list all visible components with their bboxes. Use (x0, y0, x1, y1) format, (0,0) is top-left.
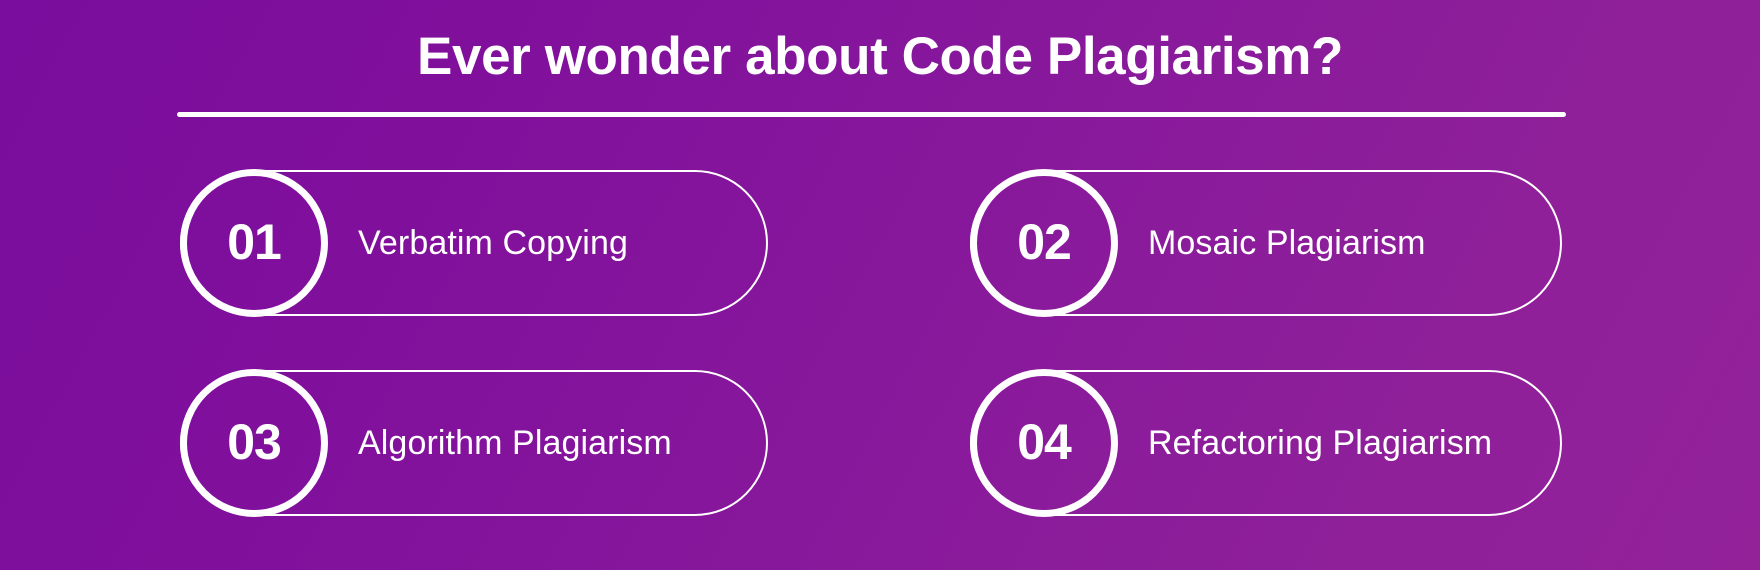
card-number: 04 (1017, 417, 1071, 467)
poster-header: Ever wonder about Code Plagiarism? (0, 22, 1760, 92)
plagiarism-type-card-04[interactable]: 04 Refactoring Plagiarism (970, 370, 1562, 516)
plagiarism-type-card-01[interactable]: 01 Verbatim Copying (180, 170, 768, 316)
card-number: 01 (227, 217, 281, 267)
plagiarism-type-card-03[interactable]: 03 Algorithm Plagiarism (180, 370, 768, 516)
card-number: 03 (227, 417, 281, 467)
card-label: Mosaic Plagiarism (1148, 170, 1426, 316)
card-number-badge: 03 (180, 369, 328, 517)
page-title: Ever wonder about Code Plagiarism? (0, 22, 1760, 92)
plagiarism-types-poster: Ever wonder about Code Plagiarism? 01 Ve… (0, 0, 1760, 570)
card-label: Verbatim Copying (358, 170, 628, 316)
card-label: Refactoring Plagiarism (1148, 370, 1492, 516)
card-label: Algorithm Plagiarism (358, 370, 672, 516)
card-number-badge: 01 (180, 169, 328, 317)
title-underline-divider (177, 112, 1566, 117)
card-number: 02 (1017, 217, 1071, 267)
card-number-badge: 04 (970, 369, 1118, 517)
plagiarism-type-card-02[interactable]: 02 Mosaic Plagiarism (970, 170, 1562, 316)
card-number-badge: 02 (970, 169, 1118, 317)
